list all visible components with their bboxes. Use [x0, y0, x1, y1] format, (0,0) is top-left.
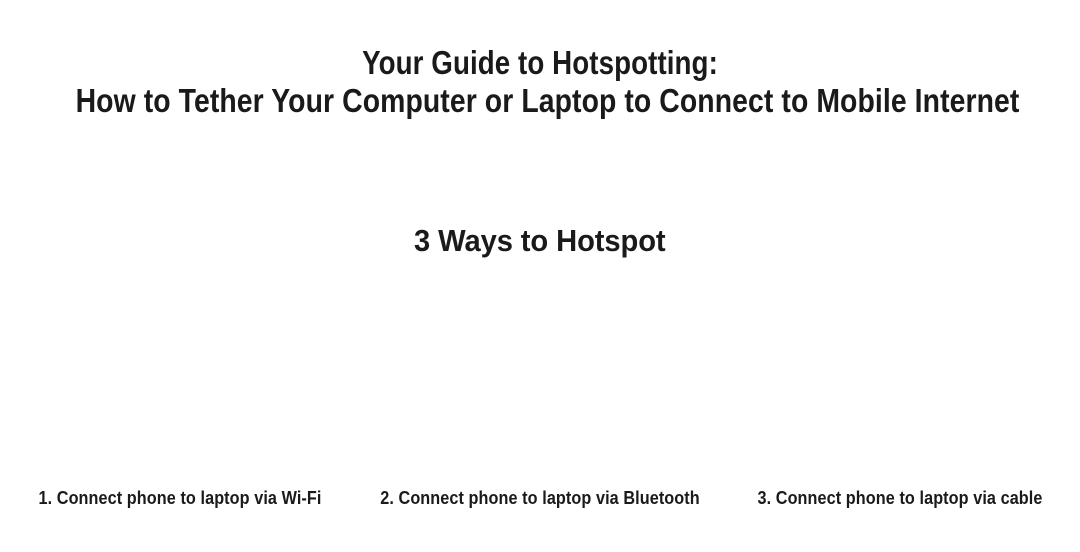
- method-caption-wifi: 1. Connect phone to laptop via Wi-Fi: [18, 487, 342, 532]
- section-heading: 3 Ways to Hotspot: [0, 223, 1080, 259]
- method-item-wifi: 1. Connect phone to laptop via Wi-Fi: [0, 286, 360, 532]
- method-caption-cable: 3. Connect phone to laptop via cable: [738, 487, 1062, 532]
- cable-tethering-illustration: [750, 286, 1050, 487]
- method-item-cable: 3. Connect phone to laptop via cable: [720, 286, 1080, 532]
- wifi-tethering-illustration: [30, 286, 330, 487]
- section-heading-label: 3 Ways to Hotspot: [414, 223, 666, 259]
- methods-row: 1. Connect phone to laptop via Wi-Fi 2. …: [0, 286, 1080, 532]
- page-title-line-2: How to Tether Your Computer or Laptop to…: [76, 82, 1005, 120]
- page-title: Your Guide to Hotspotting: How to Tether…: [0, 44, 1080, 120]
- page-title-line-1: Your Guide to Hotspotting:: [86, 44, 993, 82]
- method-item-bluetooth: 2. Connect phone to laptop via Bluetooth: [360, 286, 720, 532]
- method-caption-bluetooth: 2. Connect phone to laptop via Bluetooth: [378, 487, 702, 532]
- bluetooth-tethering-illustration: [390, 286, 690, 487]
- infographic-page: Your Guide to Hotspotting: How to Tether…: [0, 0, 1080, 552]
